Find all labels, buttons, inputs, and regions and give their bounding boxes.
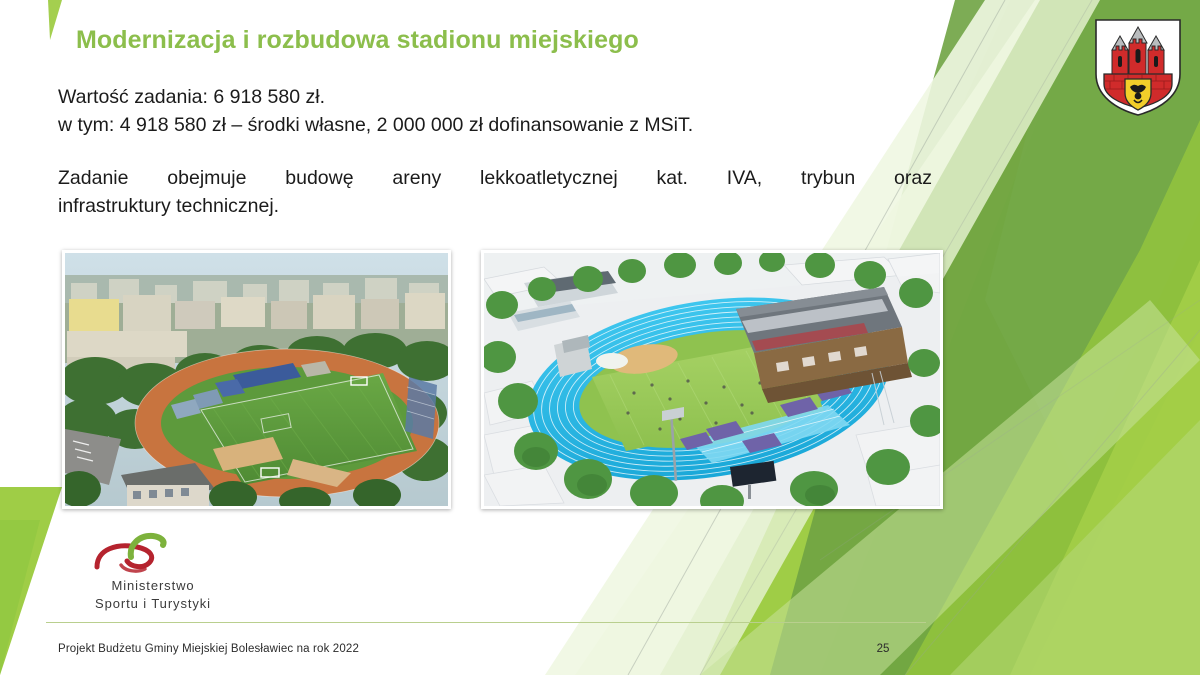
project-scope-line-1: Zadanie obejmuje budowę areny lekkoatlet… [58, 164, 932, 192]
project-value-text: Wartość zadania: 6 918 580 zł. w tym: 4 … [58, 84, 958, 139]
ministry-swoosh-icon [91, 527, 169, 575]
ministry-logo-line-1: Ministerstwo [63, 577, 243, 595]
project-value-line-1: Wartość zadania: 6 918 580 zł. [58, 84, 958, 112]
ministry-logo-line-2: Sportu i Turystyki [63, 595, 243, 613]
ministry-logo-text: Ministerstwo Sportu i Turystyki [63, 577, 243, 614]
stadium-modernization-render [481, 250, 943, 509]
project-scope-paragraph: Zadanie obejmuje budowę areny lekkoatlet… [58, 164, 932, 221]
project-value-line-2: w tym: 4 918 580 zł – środki własne, 2 0… [58, 112, 958, 140]
ministry-of-sport-logo: Ministerstwo Sportu i Turystyki [63, 527, 243, 619]
project-scope-line-2: infrastruktury technicznej. [58, 192, 932, 220]
page-number: 25 [868, 643, 898, 655]
footer-text: Projekt Budżetu Gminy Miejskiej Bolesław… [58, 643, 359, 655]
boleslawiec-coat-of-arms-icon [1090, 16, 1186, 116]
footer-divider [46, 622, 926, 623]
existing-stadium-aerial-photo [62, 250, 451, 509]
presentation-slide: Modernizacja i rozbudowa stadionu miejsk… [0, 0, 1200, 675]
page-title: Modernizacja i rozbudowa stadionu miejsk… [76, 25, 976, 56]
